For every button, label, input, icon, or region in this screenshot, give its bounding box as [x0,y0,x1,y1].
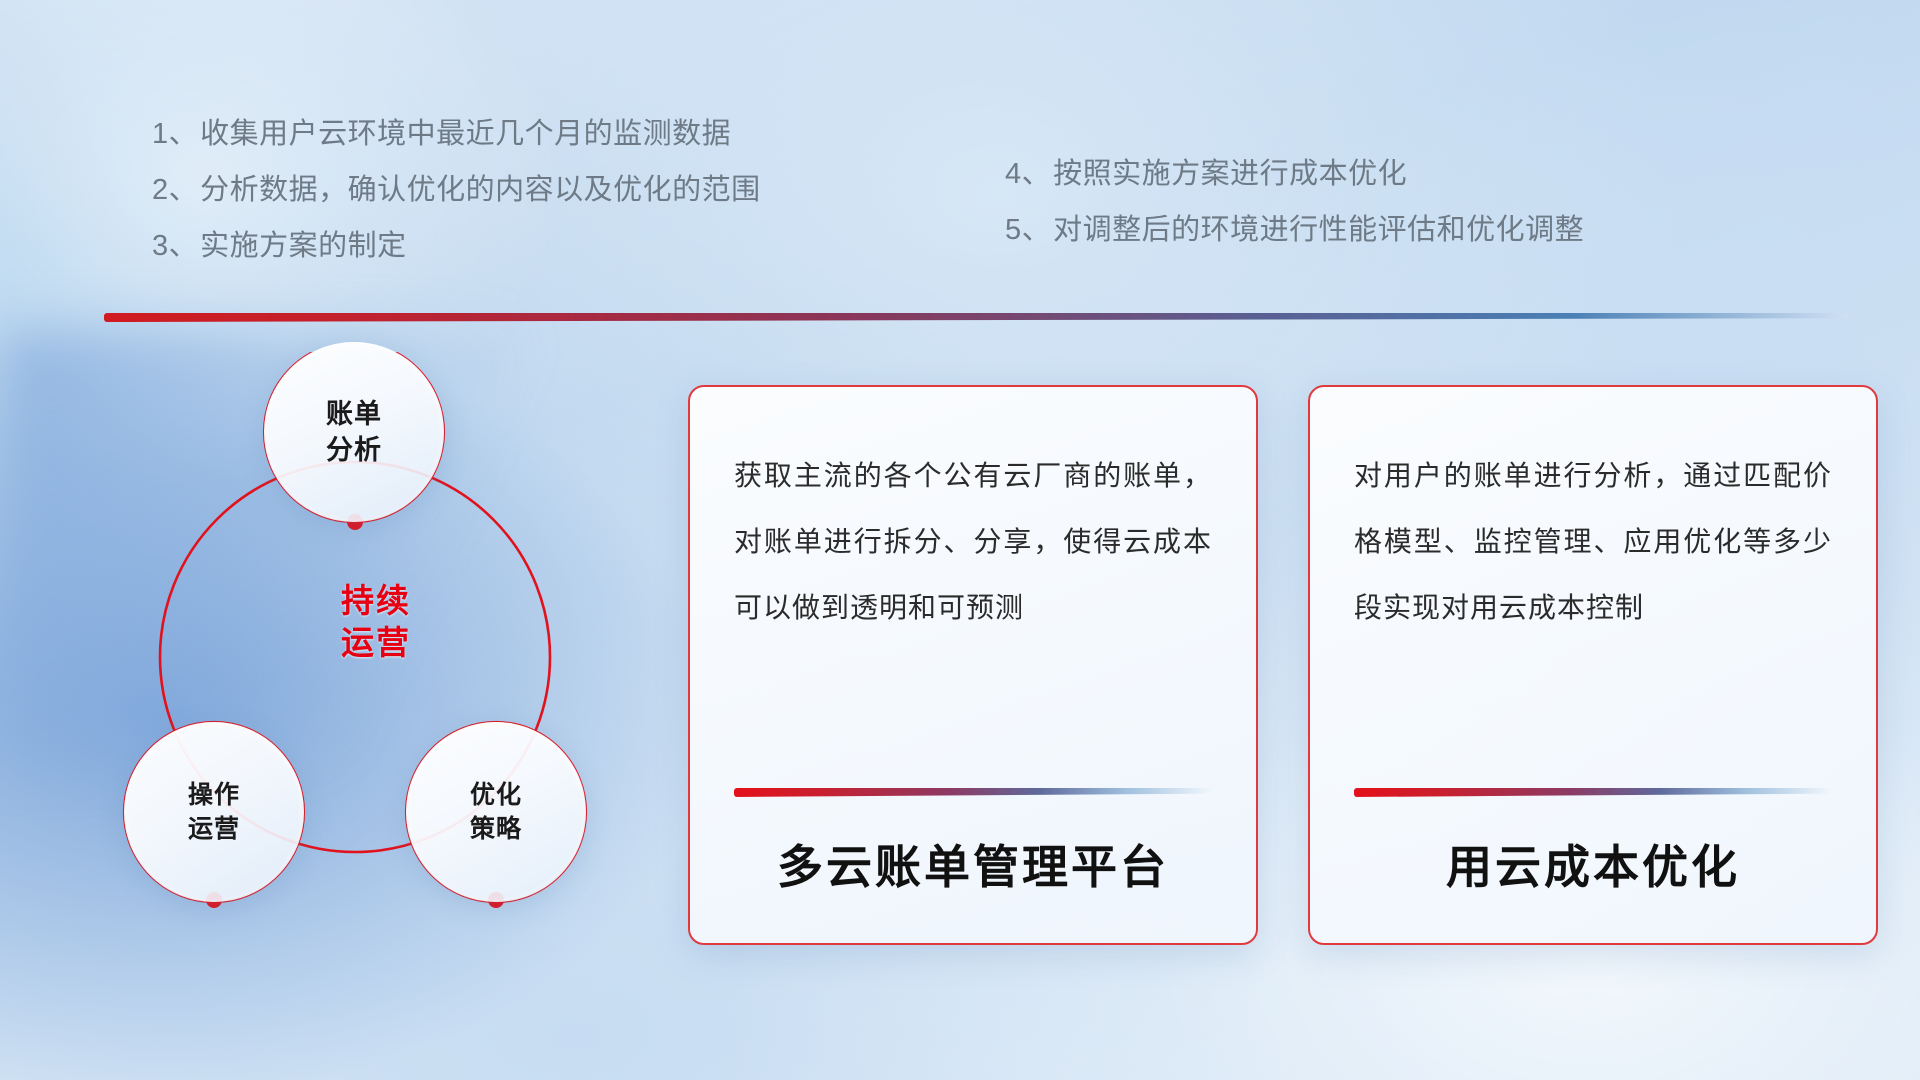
list-item: 2、 分析数据，确认优化的内容以及优化的范围 [152,162,761,218]
list-item-label: 收集用户云环境中最近几个月的监测数据 [200,106,731,162]
card-title: 多云账单管理平台 [734,797,1212,943]
list-item-number: 3、 [152,218,198,274]
bubble-label-line1: 优化 [470,778,522,812]
section-divider [104,313,1849,322]
list-item: 3、 实施方案的制定 [152,218,761,274]
card-cloud-cost-optimization[interactable]: 对用户的账单进行分析，通过匹配价格模型、监控管理、应用优化等多少段实现对用云成本… [1308,385,1878,945]
card-title: 用云成本优化 [1354,797,1832,943]
diagram-bubble-ops-operation[interactable]: 操作 运营 [124,722,304,902]
bubble-label-line1: 操作 [188,778,240,812]
list-item-label: 对调整后的环境进行性能评估和优化调整 [1053,202,1584,258]
process-steps-list: 1、 收集用户云环境中最近几个月的监测数据 2、 分析数据，确认优化的内容以及优… [0,106,1920,296]
list-item-label: 分析数据，确认优化的内容以及优化的范围 [200,162,761,218]
diagram-center-label: 持续 运营 [296,580,456,664]
card-body-text: 获取主流的各个公有云厂商的账单，对账单进行拆分、分享，使得云成本可以做到透明和可… [734,443,1212,641]
bubble-label-line2: 运营 [188,812,240,846]
bubble-label-line1: 账单 [326,396,382,432]
list-item: 4、 按照实施方案进行成本优化 [1005,146,1584,202]
list-item: 5、 对调整后的环境进行性能评估和优化调整 [1005,202,1584,258]
list-item-number: 1、 [152,106,198,162]
card-body-text: 对用户的账单进行分析，通过匹配价格模型、监控管理、应用优化等多少段实现对用云成本… [1354,443,1832,641]
list-item-number: 4、 [1005,146,1051,202]
bubble-label-line2: 策略 [470,812,522,846]
list-item-label: 实施方案的制定 [200,218,407,274]
diagram-bubble-opt-strategy[interactable]: 优化 策略 [406,722,586,902]
list-item-number: 5、 [1005,202,1051,258]
steps-left-column: 1、 收集用户云环境中最近几个月的监测数据 2、 分析数据，确认优化的内容以及优… [152,106,761,274]
center-label-line2: 运营 [296,622,456,664]
list-item: 1、 收集用户云环境中最近几个月的监测数据 [152,106,761,162]
list-item-label: 按照实施方案进行成本优化 [1053,146,1407,202]
continuous-operation-diagram: 账单 分析 操作 运营 优化 策略 持续 运营 [96,352,656,952]
list-item-number: 2、 [152,162,198,218]
divider-bar [104,313,1849,322]
diagram-bubble-bill-analysis[interactable]: 账单 分析 [264,342,444,522]
card-accent-rule [734,788,1212,797]
card-accent-rule [1354,788,1832,797]
bubble-label-line2: 分析 [326,432,382,468]
card-multi-cloud-billing-platform[interactable]: 获取主流的各个公有云厂商的账单，对账单进行拆分、分享，使得云成本可以做到透明和可… [688,385,1258,945]
center-label-line1: 持续 [296,580,456,622]
steps-right-column: 4、 按照实施方案进行成本优化 5、 对调整后的环境进行性能评估和优化调整 [1005,146,1584,258]
